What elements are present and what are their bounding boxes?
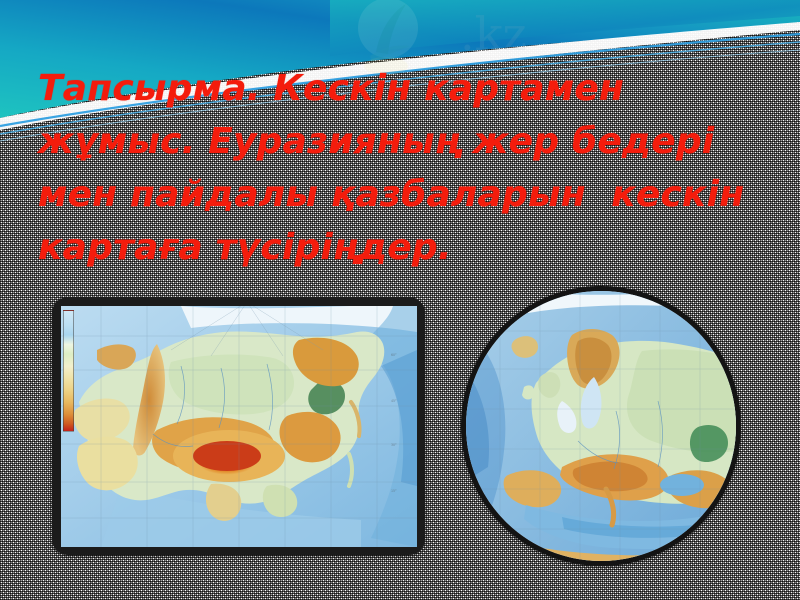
slide-canvas: .kz Тапсырма. Кескін картамен жұмыс. Еур… <box>0 0 800 600</box>
svg-text:15°: 15° <box>391 489 397 493</box>
map-eurasia-framed-image[interactable]: 60°45° 30°15° <box>52 297 425 555</box>
svg-text:30°: 30° <box>391 443 397 447</box>
svg-text:45°: 45° <box>391 399 397 403</box>
map-eurasia-canvas: 60°45° 30°15° <box>61 306 417 547</box>
eurasia-relief-map-graphic: 60°45° 30°15° <box>61 306 417 547</box>
europe-relief-map-graphic <box>466 291 736 561</box>
page-title: Тапсырма. Кескін картамен жұмыс. Еуразия… <box>38 62 783 274</box>
map-elevation-legend <box>63 310 74 432</box>
map-europe-circular-image[interactable] <box>461 286 741 566</box>
map-europe-canvas <box>466 291 736 561</box>
svg-text:60°: 60° <box>391 353 397 357</box>
